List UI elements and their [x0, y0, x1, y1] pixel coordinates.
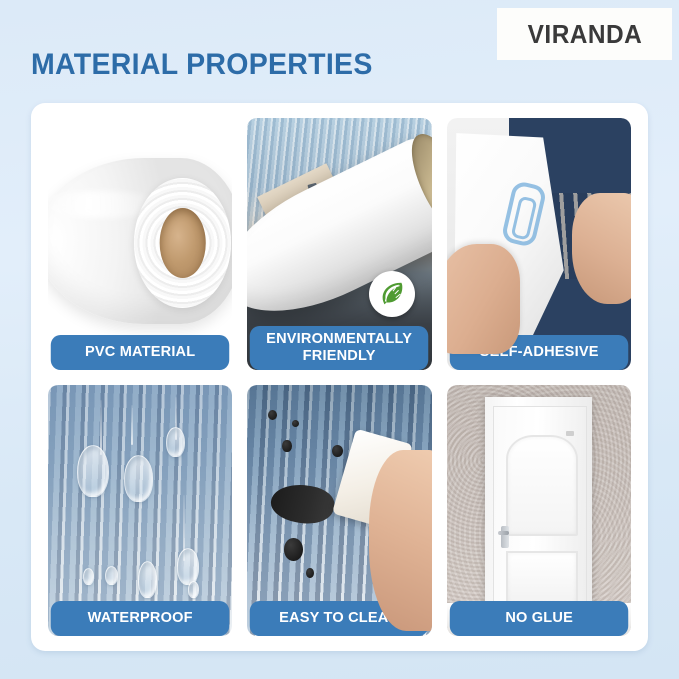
page-title: MATERIAL PROPERTIES [31, 48, 373, 82]
door-frame [485, 397, 592, 613]
easy-to-clean-image [247, 385, 431, 637]
hand-left [447, 244, 521, 355]
eco-roll-edge [400, 126, 432, 244]
pvc-roll-body [48, 158, 232, 324]
water-droplet [138, 561, 157, 598]
water-droplet [105, 566, 118, 586]
water-trail [131, 405, 133, 445]
stain-smear [269, 480, 337, 527]
self-adhesive-image [447, 118, 631, 370]
pvc-roll-face [134, 178, 231, 307]
stain-spot [292, 420, 299, 428]
feature-label-environmentally-friendly: ENVIRONMENTALLY FRIENDLY [250, 326, 429, 370]
stain-spot [284, 538, 302, 561]
waterproof-image [48, 385, 232, 637]
stain-spot [282, 440, 291, 453]
stain-spot [268, 410, 277, 420]
water-droplet [77, 445, 108, 497]
water-droplet [177, 548, 199, 585]
stain-spot [306, 568, 313, 578]
stain-spot [332, 445, 343, 458]
brand-logo: VIRANDA [497, 8, 672, 60]
feature-grid: PVC MATERIAL [48, 118, 631, 636]
feature-label-no-glue: NO GLUE [449, 601, 628, 636]
feature-label-waterproof: WATERPROOF [51, 601, 230, 636]
water-droplet [83, 568, 94, 585]
door-panel-bottom [506, 551, 578, 608]
feature-card-easy-to-clean[interactable]: EASY TO CLEAN [247, 385, 431, 637]
hand-holding-sponge [369, 450, 432, 631]
feature-card-pvc-material[interactable]: PVC MATERIAL [48, 118, 232, 370]
feature-card-self-adhesive[interactable]: SELF-ADHESIVE [447, 118, 631, 370]
pvc-roll-core [159, 208, 206, 278]
hand-right [572, 193, 631, 304]
water-trail [100, 400, 102, 455]
water-droplet [166, 427, 185, 457]
eco-leaf-icon [369, 271, 415, 317]
feature-card-no-glue[interactable]: NO GLUE [447, 385, 631, 637]
water-droplet [188, 581, 199, 598]
water-droplet [124, 455, 154, 502]
door-leaf [493, 406, 587, 613]
material-properties-poster: VIRANDA MATERIAL PROPERTIES PVC MATERIAL [0, 0, 679, 679]
feature-label-pvc-material: PVC MATERIAL [51, 335, 230, 370]
feature-card-waterproof[interactable]: WATERPROOF [48, 385, 232, 637]
no-glue-image [447, 385, 631, 637]
pvc-roll-image [48, 118, 232, 370]
door-hinge [566, 431, 574, 436]
door-panel-top [506, 435, 578, 536]
door-handle [501, 526, 509, 549]
brand-name: VIRANDA [527, 19, 642, 50]
feature-card-environmentally-friendly[interactable]: ENVIRONMENTALLY FRIENDLY [247, 118, 431, 370]
